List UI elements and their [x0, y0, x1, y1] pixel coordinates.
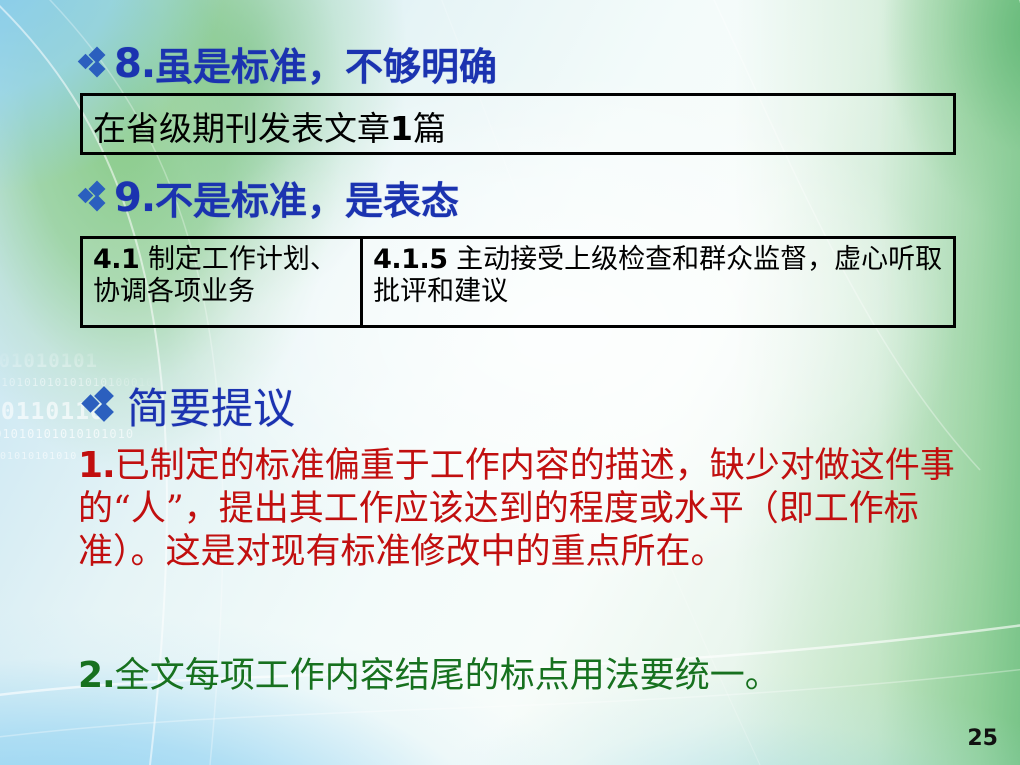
example-box-8-prefix: 在省级期刊发表文章 — [93, 109, 390, 148]
example-table: 4.1 制定工作计划、协调各项业务 4.1.5 主动接受上级检查和群众监督，虚心… — [80, 236, 956, 328]
heading-item-9-number: 9. — [114, 175, 155, 221]
example-table-cell-left: 4.1 制定工作计划、协调各项业务 — [83, 239, 363, 325]
example-table-cell-left-code: 4.1 — [93, 244, 139, 275]
suggestion-item-2-text: 全文每项工作内容结尾的标点用法要统一。 — [115, 656, 780, 696]
page-number: 25 — [967, 726, 998, 751]
example-box-8-suffix: 篇 — [413, 109, 446, 148]
example-table-cell-right: 4.1.5 主动接受上级检查和群众监督，虚心听取批评和建议 — [363, 239, 953, 325]
suggestion-item-2: 2.全文每项工作内容结尾的标点用法要统一。 — [78, 654, 960, 698]
example-box-8: 在省级期刊发表文章1篇 — [80, 93, 956, 155]
heading-suggestions: 简要提议 — [84, 375, 295, 436]
suggestion-item-1-marker: 1. — [78, 445, 115, 486]
diamond-cluster-bullet-icon — [80, 49, 110, 79]
heading-suggestions-text: 简要提议 — [127, 375, 295, 436]
example-table-cell-right-text: 主动接受上级检查和群众监督，虚心听取批评和建议 — [373, 244, 942, 307]
heading-item-8-number: 8. — [114, 41, 155, 87]
example-box-8-number: 1 — [390, 109, 413, 148]
example-table-cell-right-code: 4.1.5 — [373, 244, 447, 275]
example-box-8-text: 在省级期刊发表文章1篇 — [93, 102, 446, 150]
suggestion-item-1-text: 已制定的标准偏重于工作内容的描述，缺少对做这件事的“人”，提出其工作应该达到的程… — [78, 446, 955, 572]
heading-item-8: 8. 虽是标准，不够明确 — [80, 36, 497, 91]
slide-canvas: 101010101 101010101010101010001010101010… — [0, 0, 1020, 765]
suggestion-item-1: 1.已制定的标准偏重于工作内容的描述，缺少对做这件事的“人”，提出其工作应该达到… — [78, 444, 960, 573]
heading-item-9-text: 不是标准，是表态 — [155, 170, 459, 225]
slide-content: 8. 虽是标准，不够明确 在省级期刊发表文章1篇 9. 不是标准，是表态 4.1… — [0, 0, 1020, 765]
suggestion-item-2-marker: 2. — [78, 655, 115, 696]
diamond-cluster-bullet-icon — [84, 389, 118, 423]
heading-item-8-text: 虽是标准，不够明确 — [155, 36, 497, 91]
diamond-cluster-bullet-icon — [80, 183, 110, 213]
heading-item-9: 9. 不是标准，是表态 — [80, 170, 459, 225]
